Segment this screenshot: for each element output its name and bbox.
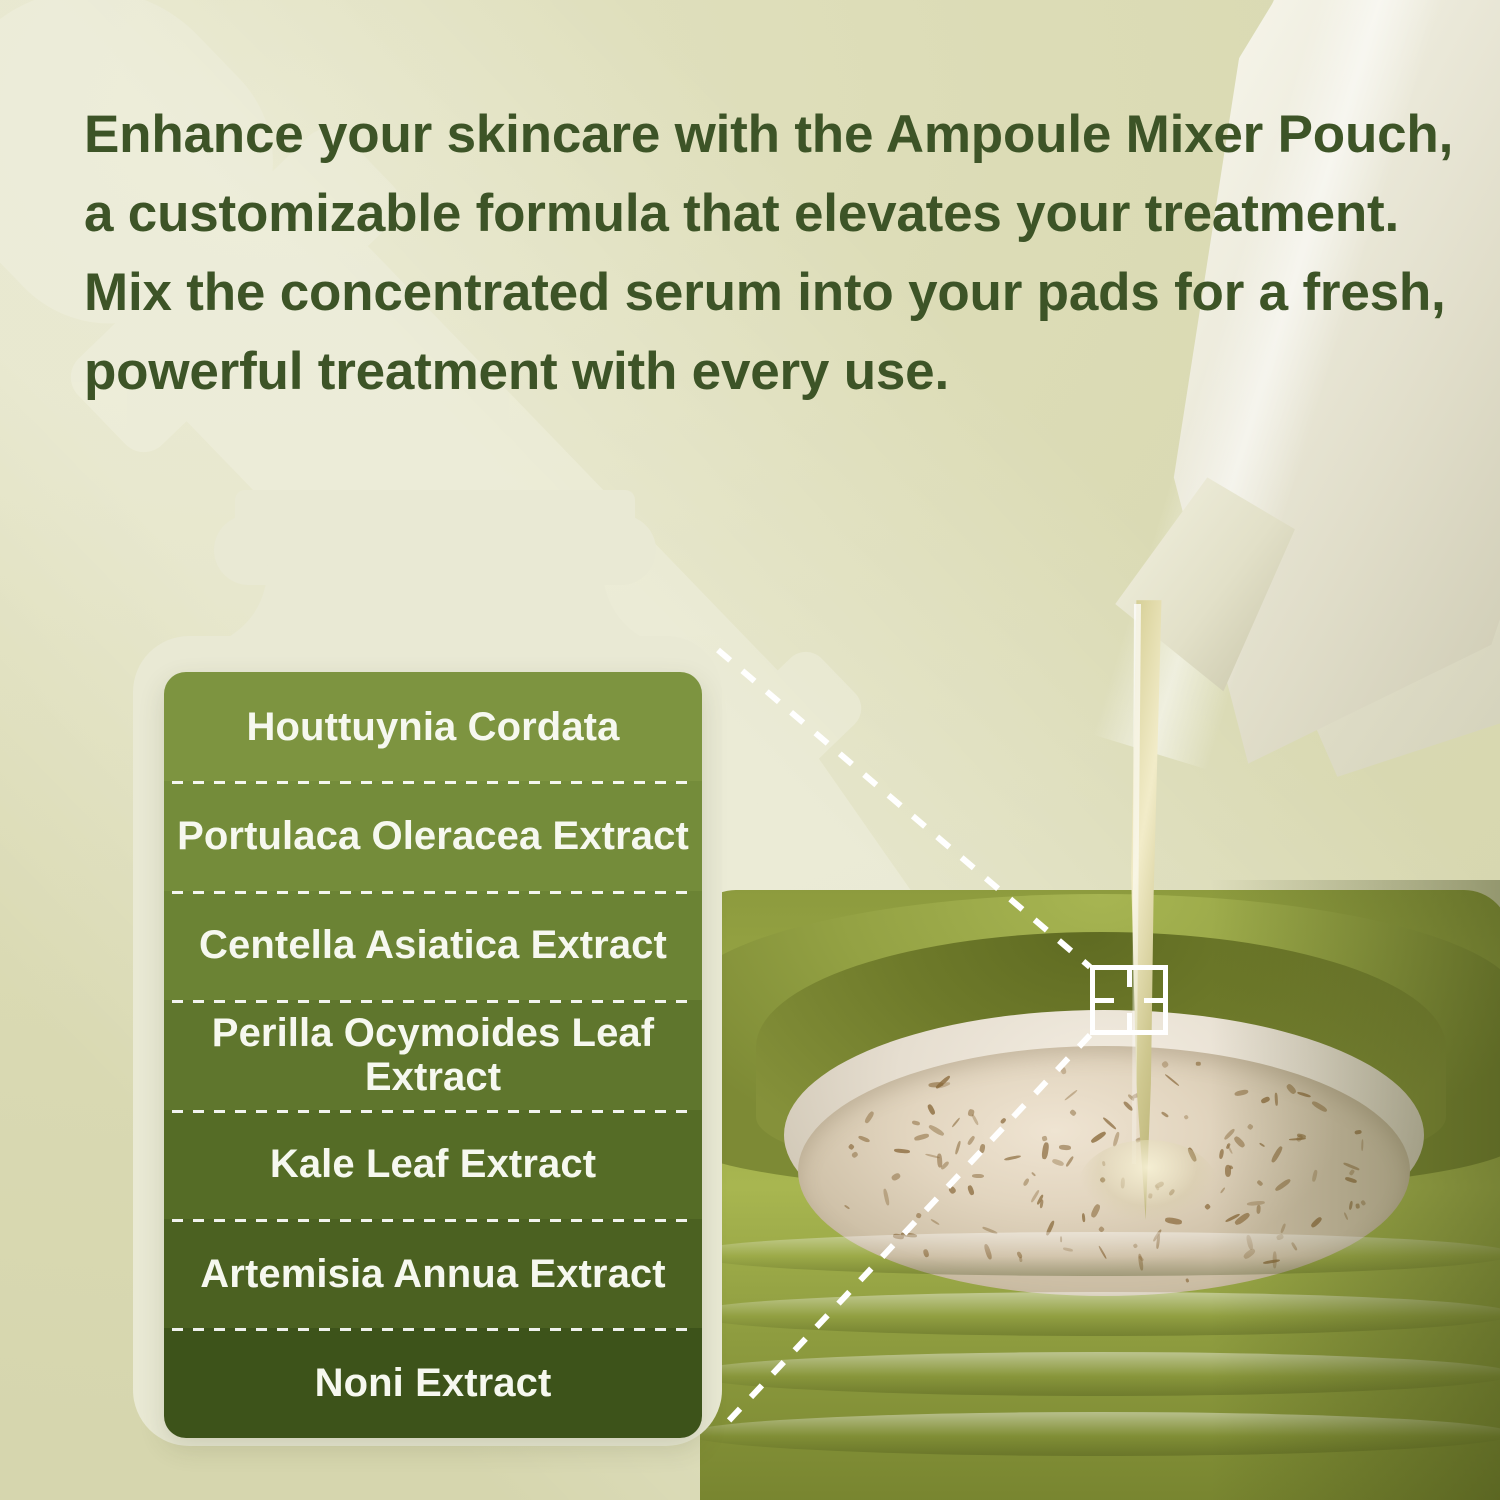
leader-line-top <box>718 650 1090 967</box>
headline-line: powerful treatment with every use. <box>84 333 1444 412</box>
focus-frame-icon <box>1090 965 1168 1035</box>
headline-line: a customizable formula that elevates you… <box>84 175 1444 254</box>
leader-line-bottom <box>722 1035 1090 1428</box>
infographic-canvas: Houttuynia Cordata Portulaca Oleracea Ex… <box>0 0 1500 1500</box>
headline-line: Enhance your skincare with the Ampoule M… <box>84 96 1444 175</box>
headline-line: Mix the concentrated serum into your pad… <box>84 254 1444 333</box>
headline-text: Enhance your skincare with the Ampoule M… <box>84 96 1444 412</box>
